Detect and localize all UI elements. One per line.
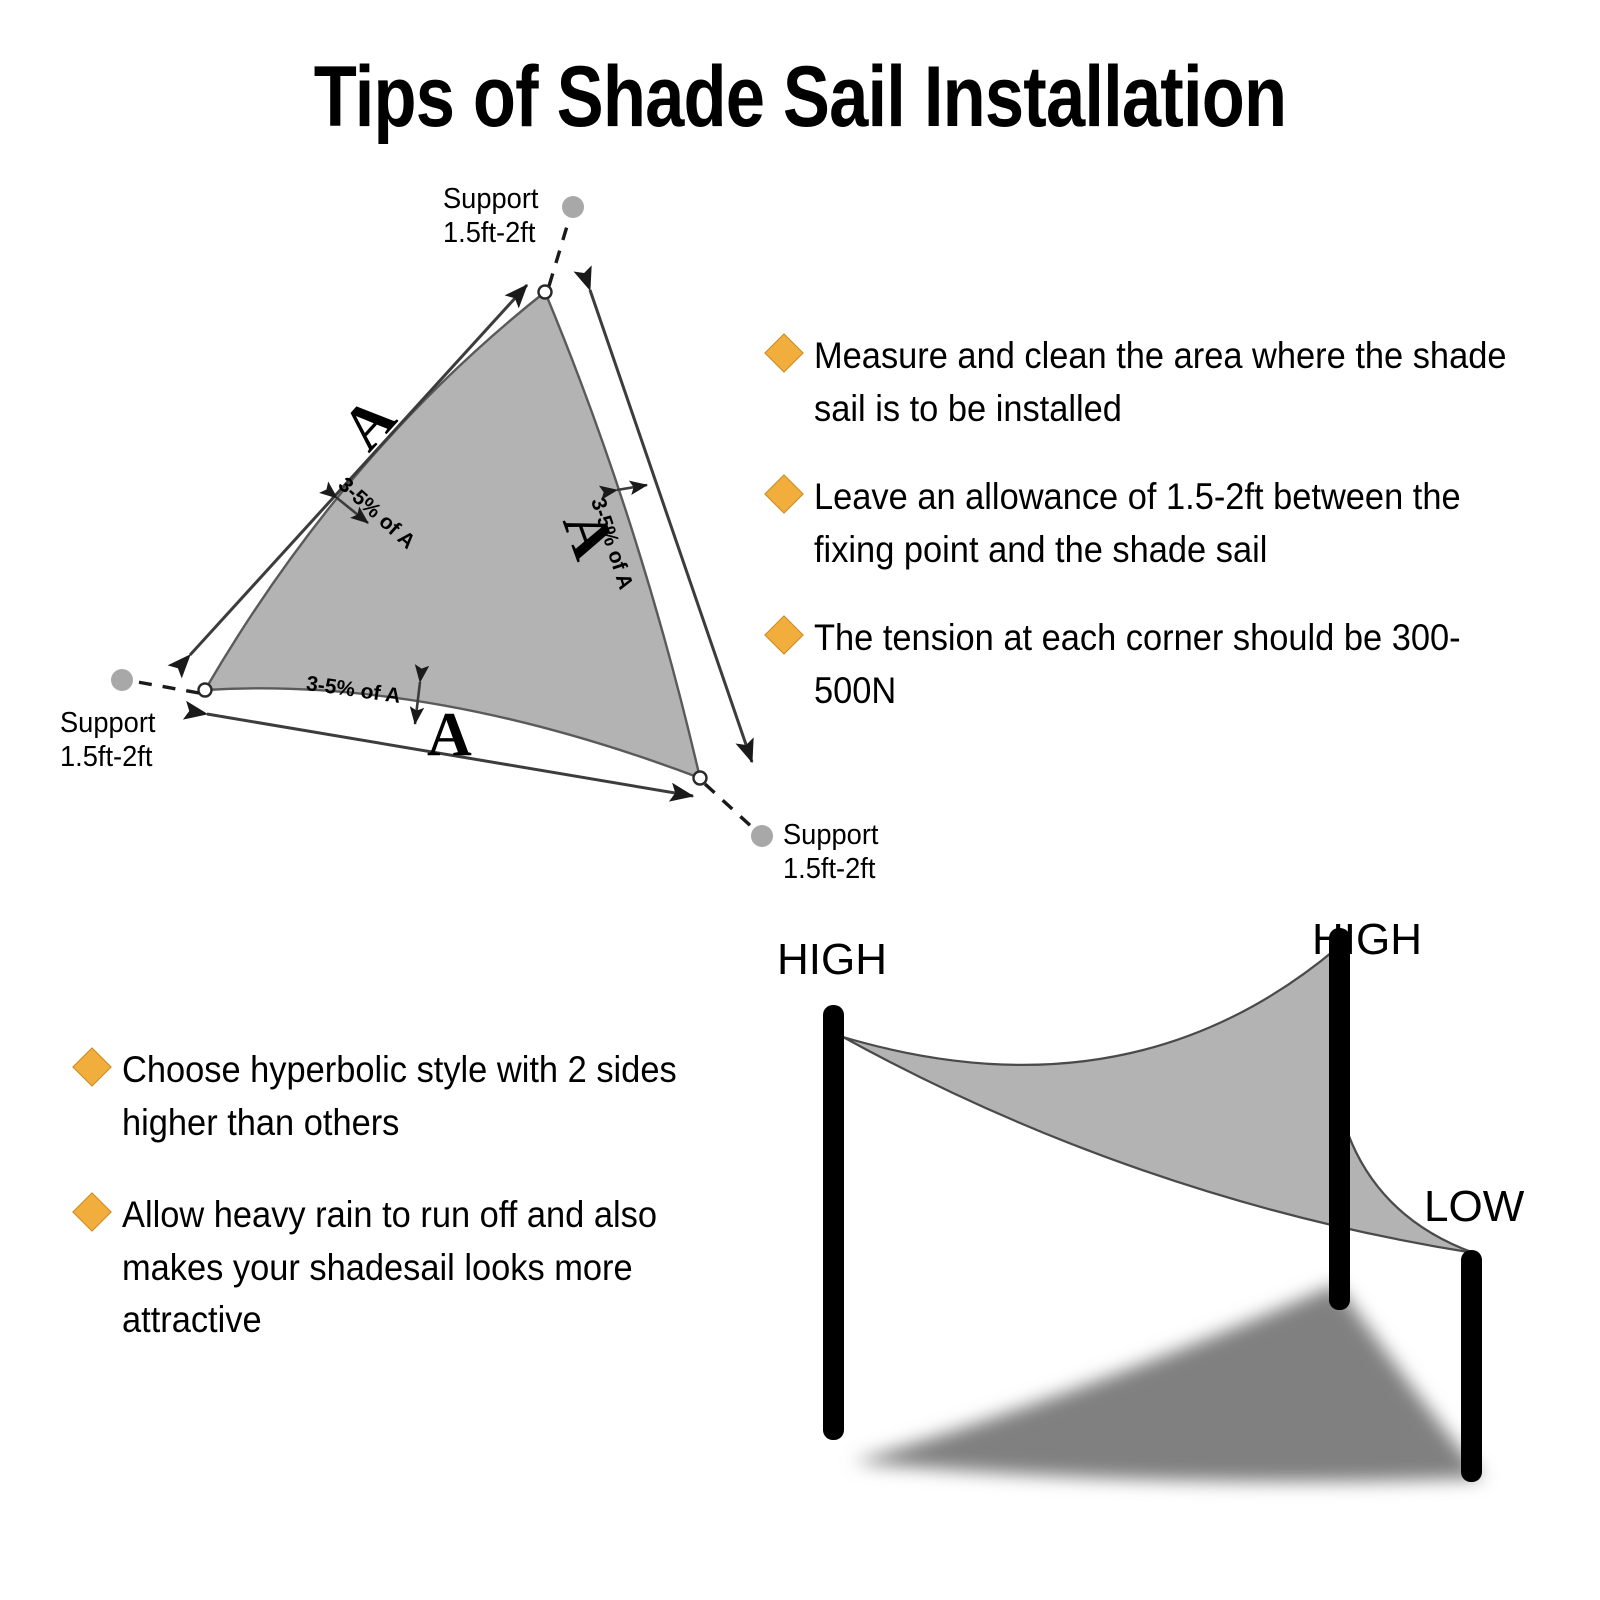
tips-list-left: Choose hyperbolic style with 2 sides hig… <box>78 1044 778 1387</box>
chord-label-left: A <box>328 384 411 465</box>
dimension-arrow-bottom-sag <box>415 682 420 724</box>
post-label-left-high: HIGH <box>777 935 887 985</box>
post-label-right-high: HIGH <box>1312 915 1422 965</box>
support-label-bottom-right: Support1.5ft-2ft <box>783 818 878 886</box>
list-item: Choose hyperbolic style with 2 sides hig… <box>78 1044 778 1149</box>
list-item-text: Choose hyperbolic style with 2 sides hig… <box>122 1044 732 1149</box>
ground-shadow <box>853 1284 1483 1482</box>
support-label-top: Support1.5ft-2ft <box>443 182 538 250</box>
post-middle <box>1329 1232 1348 1308</box>
post-left-high <box>823 1005 844 1440</box>
chord-label-bottom: A <box>427 700 472 771</box>
list-item-text: The tension at each corner should be 300… <box>814 612 1508 717</box>
list-item: Leave an allowance of 1.5-2ft between th… <box>770 471 1560 576</box>
dimension-arrow-left-chord <box>190 285 527 655</box>
support-cable-bottom-right <box>705 784 753 828</box>
curve-label-left: 3-5% of A <box>333 473 420 554</box>
list-item: Allow heavy rain to run off and also mak… <box>78 1189 778 1347</box>
support-label-top-line2: 1.5ft-2ft <box>443 217 535 249</box>
support-label-bottom-left: Support1.5ft-2ft <box>60 706 155 774</box>
support-label-bottom-left-line1: Support <box>60 707 155 739</box>
post-low <box>1461 1250 1482 1482</box>
support-label-bottom-left-line2: 1.5ft-2ft <box>60 741 152 773</box>
grommet-bottom-left <box>199 684 212 697</box>
dimension-arrow-right-sag <box>617 485 647 490</box>
list-item-text: Measure and clean the area where the sha… <box>814 330 1508 435</box>
tips-list-right: Measure and clean the area where the sha… <box>770 330 1560 753</box>
curve-label-bottom: 3-5% of A <box>305 672 402 709</box>
post-right-high <box>1329 928 1350 1310</box>
support-label-bottom-right-line1: Support <box>783 819 878 851</box>
grommet-top <box>539 286 552 299</box>
hyperbolic-sail-body <box>843 948 1474 1253</box>
diamond-bullet-icon <box>764 474 804 514</box>
support-dot-bottom-right <box>751 825 773 847</box>
diamond-bullet-icon <box>764 333 804 373</box>
diamond-bullet-icon <box>72 1192 112 1232</box>
infographic-page: Tips of Shade Sail Installation <box>0 0 1600 1600</box>
support-cable-top <box>549 213 571 286</box>
support-cable-bottom-left <box>132 681 199 693</box>
page-title: Tips of Shade Sail Installation <box>144 48 1456 147</box>
support-dot-top <box>562 196 584 218</box>
list-item-text: Leave an allowance of 1.5-2ft between th… <box>814 471 1508 576</box>
diamond-bullet-icon <box>764 615 804 655</box>
support-dot-bottom-left <box>111 669 133 691</box>
support-label-bottom-right-line2: 1.5ft-2ft <box>783 853 875 885</box>
grommet-bottom-right <box>694 772 707 785</box>
diamond-bullet-icon <box>72 1047 112 1087</box>
list-item: The tension at each corner should be 300… <box>770 612 1560 717</box>
support-label-top-line1: Support <box>443 183 538 215</box>
list-item: Measure and clean the area where the sha… <box>770 330 1560 435</box>
list-item-text: Allow heavy rain to run off and also mak… <box>122 1189 732 1347</box>
post-label-low: LOW <box>1424 1182 1524 1232</box>
